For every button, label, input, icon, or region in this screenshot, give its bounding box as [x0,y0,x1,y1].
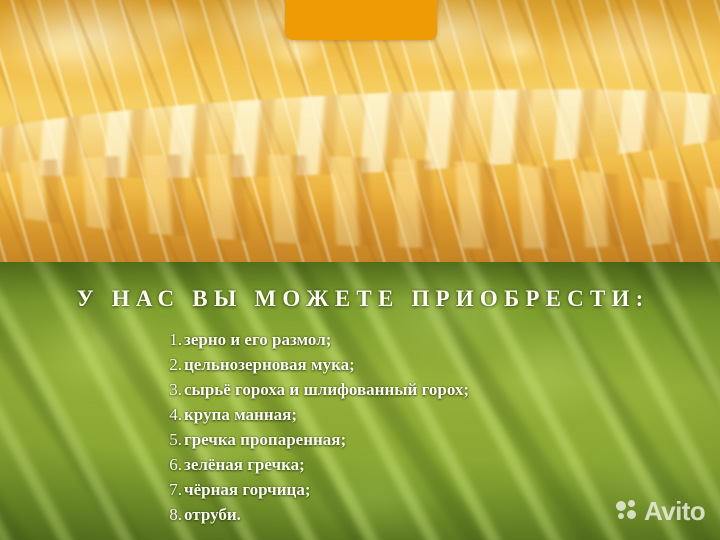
list-item: 8. отруби. [0,505,720,530]
list-item: 4. крупа манная; [0,405,720,430]
headline: У НАС ВЫ МОЖЕТЕ ПРИОБРЕСТИ: [0,286,720,312]
product-list: 1. зерно и его размол; 2. цельнозерновая… [0,330,720,530]
list-item: 1. зерно и его размол; [0,330,720,355]
list-item-number: 1. [0,330,184,350]
list-item-number: 2. [0,355,184,375]
list-item-number: 4. [0,405,184,425]
list-item-label: цельнозерновая мука; [184,355,355,375]
list-item: 7. чёрная горчица; [0,480,720,505]
list-item-label: гречка пропаренная; [184,430,346,450]
list-item-label: крупа манная; [184,405,297,425]
orange-banner [285,0,437,40]
list-item: 6. зелёная гречка; [0,455,720,480]
list-item-number: 8. [0,505,184,525]
list-item-number: 7. [0,480,184,500]
list-item-label: сырьё гороха и шлифованный горох; [184,380,469,400]
avito-watermark: Avito [616,498,705,524]
list-item-label: зелёная гречка; [184,455,305,475]
list-item-number: 5. [0,430,184,450]
list-item-number: 6. [0,455,184,475]
list-item: 2. цельнозерновая мука; [0,355,720,380]
list-item: 5. гречка пропаренная; [0,430,720,455]
list-item-label: отруби. [184,505,241,525]
avito-wordmark: Avito [644,498,705,524]
list-item-label: чёрная горчица; [184,480,311,500]
list-item-number: 3. [0,380,184,400]
advertisement-image: У НАС ВЫ МОЖЕТЕ ПРИОБРЕСТИ: 1. зерно и е… [0,0,720,540]
list-item-label: зерно и его размол; [184,330,331,350]
list-item: 3. сырьё гороха и шлифованный горох; [0,380,720,405]
avito-dots-logo-icon [616,500,639,523]
